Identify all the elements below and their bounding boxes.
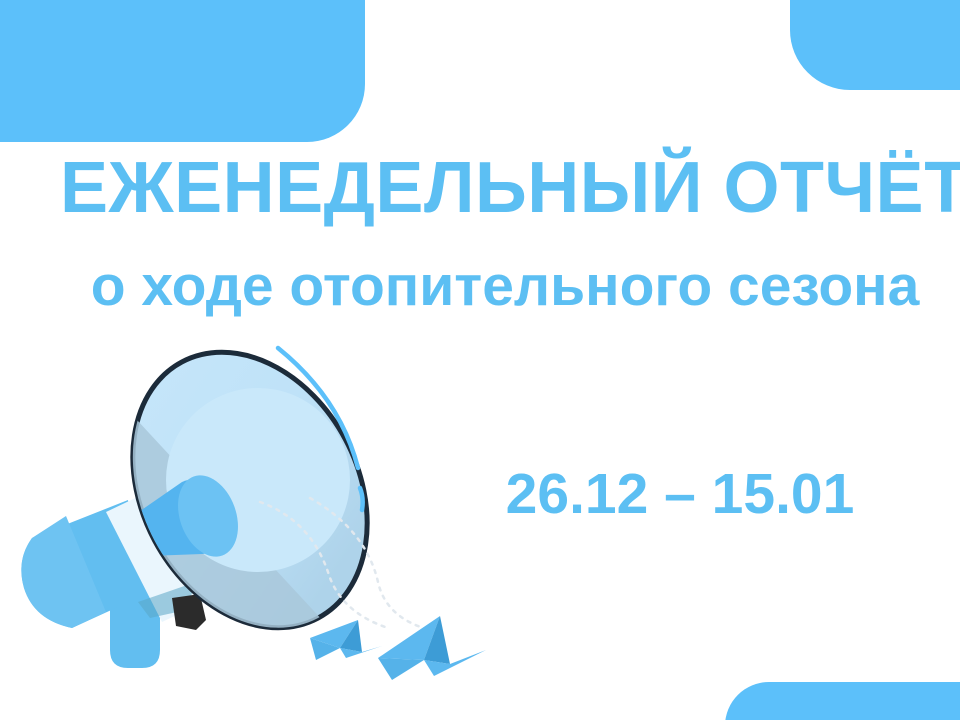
page-title: ЕЖЕНЕДЕЛЬНЫЙ ОТЧЁТ: [60, 152, 960, 224]
paper-plane-small: [310, 620, 382, 660]
decoration-top-left-block: [0, 0, 365, 142]
decoration-bottom-right-block: [725, 682, 960, 720]
megaphone-illustration: [10, 320, 490, 690]
paper-plane-large: [378, 616, 486, 680]
page-subtitle: о ходе отопительного сезона: [55, 258, 955, 315]
slide-canvas: ЕЖЕНЕДЕЛЬНЫЙ ОТЧЁТ о ходе отопительного …: [0, 0, 960, 720]
report-date-range: 26.12 – 15.01: [440, 466, 920, 523]
sound-wave-arc-short: [360, 488, 363, 510]
decoration-top-right-block: [790, 0, 960, 90]
